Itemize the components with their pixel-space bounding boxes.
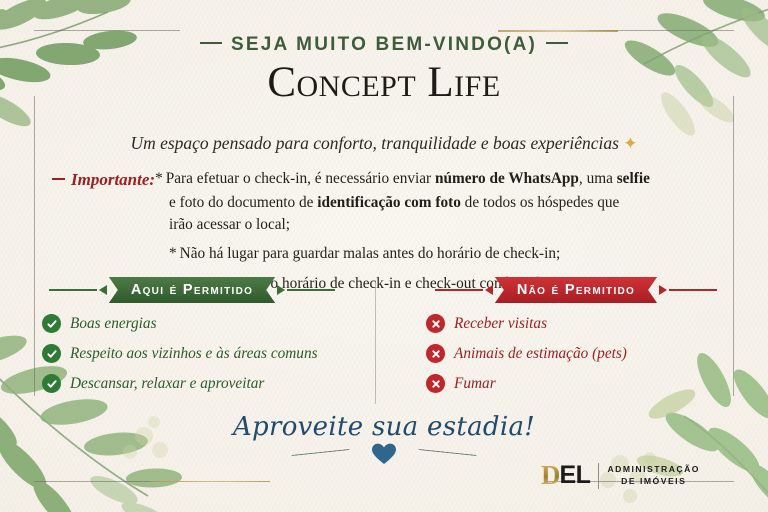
forbidden-ribbon-row: Não é Permitido [384,275,768,305]
check-icon [42,344,61,363]
header: SEJA MUITO BEM-VINDO(A) Concept Life Um … [0,0,768,154]
sparkle-icon: ✦ [623,134,637,153]
ribbon-line-right [669,289,717,290]
ribbon-line-left [435,289,483,290]
dash-icon [52,178,65,180]
list-item-label: Boas energias [70,315,157,333]
heart-icon [371,442,397,471]
list-item-label: Animais de estimação (pets) [454,345,627,363]
list-item-label: Fumar [454,375,496,393]
ribbon-arrow-left-icon [99,285,107,295]
allowed-list: Boas energias Respeito aos vizinhos e às… [0,314,384,393]
allowed-ribbon-label: Aqui é Permitido [109,277,275,303]
forbidden-list: Receber visitas Animais de estimação (pe… [384,314,768,393]
welcome-text: SEJA MUITO BEM-VINDO(A) [231,34,537,55]
closing-message: Aproveite sua estadia! [0,412,768,442]
important-line-4-text: Não há lugar para guardar malas antes do… [180,245,561,262]
logo-monogram-icon: D [541,462,559,489]
bullet-asterisk: * [169,245,177,262]
important-line-1-d: selfie [617,170,650,187]
welcome-banner: SEJA MUITO BEM-VINDO(A) [191,34,577,56]
subtitle: Um espaço pensado para conforto, tranqui… [0,133,768,154]
important-line-2-a: e foto do documento de [169,194,317,211]
list-item: Respeito aos vizinhos e às áreas comuns [42,344,384,363]
important-line-2-c: de todos os hóspedes que [461,194,619,211]
brand-logo: D EL ADMINISTRAÇÃO DE IMÓVEIS [541,461,700,490]
allowed-ribbon-row: Aqui é Permitido [0,275,384,305]
ribbon-line-left [49,289,97,290]
list-item-label: Receber visitas [454,315,547,333]
page-title: Concept Life [0,61,768,104]
logo-name: EL [560,461,591,490]
footer: Aproveite sua estadia! [0,412,768,466]
important-line-1: *Para efetuar o check-in, é necessário e… [155,168,722,190]
important-line-1-a: Para efetuar o check-in, é necessário en… [166,170,435,187]
logo-tagline-line-2: DE IMÓVEIS [621,476,686,486]
forbidden-ribbon-label: Não é Permitido [495,277,657,303]
frame-gold-bottom [150,481,270,483]
logo-tagline-line-1: ADMINISTRAÇÃO [607,464,700,474]
flourish-left-icon [292,449,351,466]
important-line-1-b: número de WhatsApp [435,170,579,187]
list-item-label: Respeito aos vizinhos e às áreas comuns [70,345,318,363]
important-line-1-c: , uma [579,170,617,187]
rules-columns: Aqui é Permitido Boas energias Respeito … [0,275,768,404]
important-label-text: Importante: [71,170,155,189]
list-item: Descansar, relaxar e aproveitar [42,374,384,393]
dash-right-icon [546,42,568,44]
check-icon [42,374,61,393]
list-item-label: Descansar, relaxar e aproveitar [70,375,264,393]
important-label: Importante: [52,168,155,192]
list-item: Boas energias [42,314,384,333]
ribbon-arrow-right-icon [277,285,285,295]
flourish-right-icon [418,449,477,466]
allowed-column: Aqui é Permitido Boas energias Respeito … [0,275,384,404]
forbidden-column: Não é Permitido Receber visitas Animais … [384,275,768,404]
flyer-card: SEJA MUITO BEM-VINDO(A) Concept Life Um … [0,0,768,512]
ribbon-arrow-left-icon [485,285,493,295]
cross-icon [426,314,445,333]
list-item: Receber visitas [426,314,768,333]
important-line-3: irão acessar o local; [52,214,722,236]
list-item: Animais de estimação (pets) [426,344,768,363]
cross-icon [426,344,445,363]
logo-tagline: ADMINISTRAÇÃO DE IMÓVEIS [607,464,700,487]
dash-left-icon [200,42,222,44]
important-line-2: e foto do documento de identificação com… [52,192,722,214]
important-line-2-b: identificação com foto [317,194,461,211]
important-first-item: *Para efetuar o check-in, é necessário e… [155,168,722,190]
check-icon [42,314,61,333]
cross-icon [426,374,445,393]
list-item: Fumar [426,374,768,393]
subtitle-text: Um espaço pensado para conforto, tranqui… [130,133,618,153]
bullet-asterisk: * [155,170,163,187]
ribbon-line-right [287,289,335,290]
important-line-4: *Não há lugar para guardar malas antes d… [169,243,722,265]
ribbon-arrow-right-icon [659,285,667,295]
logo-divider [598,463,599,489]
